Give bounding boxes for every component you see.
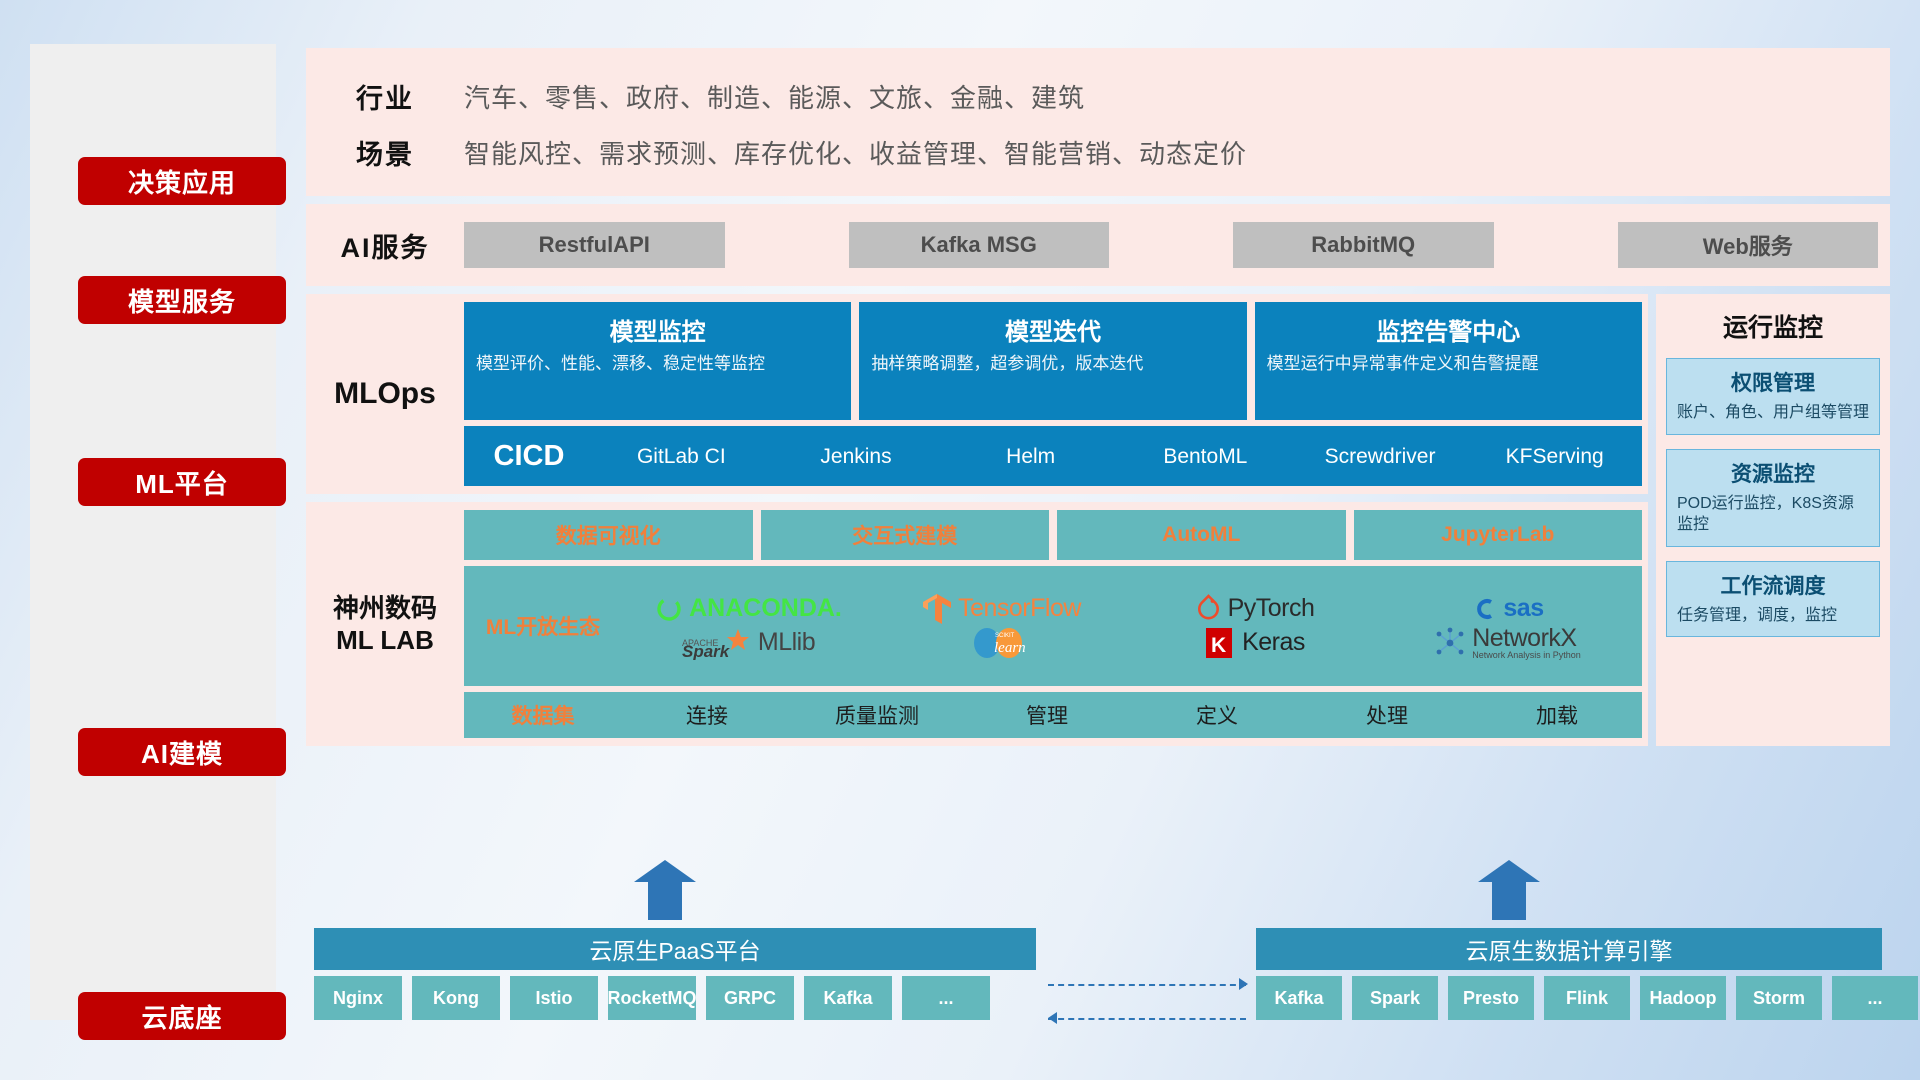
ml-lab-tool-list: 数据可视化 交互式建模 AutoML JupyterLab (464, 510, 1642, 560)
spark-icon: APACHE Spark (682, 626, 752, 660)
mlops-card-desc: 模型评价、性能、漂移、稳定性等监控 (476, 353, 839, 376)
pytorch-icon (1195, 594, 1222, 624)
paas-chip[interactable]: Nginx (314, 976, 402, 1020)
pytorch-label: PyTorch (1228, 594, 1315, 623)
ml-ecosystem-logo-grid: ANACONDA. TensorFlow (622, 592, 1642, 660)
ai-service-box[interactable]: Kafka MSG (849, 222, 1110, 268)
ai-service-box[interactable]: Web服务 (1618, 222, 1879, 268)
dataset-item[interactable]: 处理 (1302, 700, 1472, 730)
data-engine-bar[interactable]: 云原生数据计算引擎 (1256, 928, 1882, 970)
anaconda-label: ANACONDA. (689, 594, 842, 623)
dataset-item[interactable]: 连接 (622, 700, 792, 730)
mlops-card[interactable]: 监控告警中心 模型运行中异常事件定义和告警提醒 (1255, 302, 1642, 420)
pytorch-logo[interactable]: PyTorch (1195, 594, 1315, 624)
spark-mllib-label: MLlib (758, 628, 815, 657)
data-chip[interactable]: Storm (1736, 976, 1822, 1020)
tensorflow-label: TensorFlow (958, 594, 1081, 623)
ml-lab-band: 神州数码 ML LAB 数据可视化 交互式建模 AutoML JupyterLa… (306, 502, 1648, 746)
sidebar-item-label: 决策应用 (128, 163, 236, 200)
keras-icon: K (1204, 626, 1236, 660)
data-chip[interactable]: Flink (1544, 976, 1630, 1020)
sidebar-item-decision-application[interactable]: 决策应用 (78, 157, 286, 205)
networkx-logo[interactable]: NetworkX Network Analysis in Python (1434, 626, 1581, 660)
ml-ecosystem-row: ML开放生态 ANACONDA. (464, 566, 1642, 686)
cloud-foundation-section: 云原生PaaS平台 云原生数据计算引擎 Nginx Kong Istio Roc… (306, 880, 1890, 1030)
main-content: 行业 汽车、零售、政府、制造、能源、文旅、金融、建筑 场景 智能风控、需求预测、… (306, 48, 1890, 746)
data-engine-chip-list: Kafka Spark Presto Flink Hadoop Storm ..… (1256, 976, 1918, 1020)
svg-text:SCIKIT: SCIKIT (995, 633, 1015, 639)
data-engine-label: 云原生数据计算引擎 (1466, 932, 1673, 966)
industry-scenario-band: 行业 汽车、零售、政府、制造、能源、文旅、金融、建筑 场景 智能风控、需求预测、… (306, 48, 1890, 196)
sidebar-item-label: ML平台 (135, 464, 229, 501)
mlops-content: 模型监控 模型评价、性能、漂移、稳定性等监控 模型迭代 抽样策略调整，超参调优，… (464, 302, 1648, 486)
platform-and-monitoring: MLOps 模型监控 模型评价、性能、漂移、稳定性等监控 模型迭代 抽样策略调整… (306, 294, 1890, 746)
dataset-item[interactable]: 管理 (962, 700, 1132, 730)
svg-text:Spark: Spark (682, 642, 731, 660)
sidebar-item-model-service[interactable]: 模型服务 (78, 276, 286, 324)
monitoring-card-title: 工作流调度 (1677, 570, 1869, 600)
paas-chip[interactable]: GRPC (706, 976, 794, 1020)
sas-logo[interactable]: sas (1471, 594, 1543, 623)
sidebar-item-ai-modeling[interactable]: AI建模 (78, 728, 286, 776)
sidebar-item-label: AI建模 (141, 734, 223, 771)
mlops-card-title: 模型监控 (476, 312, 839, 347)
paas-chip[interactable]: RocketMQ (608, 976, 696, 1020)
monitoring-card[interactable]: 工作流调度 任务管理，调度，监控 (1666, 561, 1880, 638)
ai-service-box[interactable]: RabbitMQ (1233, 222, 1494, 268)
networkx-icon (1434, 627, 1466, 659)
dataset-item[interactable]: 质量监测 (792, 700, 962, 730)
dataset-item[interactable]: 加载 (1472, 700, 1642, 730)
monitoring-panel: 运行监控 权限管理 账户、角色、用户组等管理 资源监控 POD运行监控，K8S资… (1656, 294, 1890, 746)
scenario-key: 场景 (306, 133, 464, 172)
networkx-tagline: Network Analysis in Python (1472, 651, 1581, 660)
dataset-row: 数据集 连接 质量监测 管理 定义 处理 加载 (464, 692, 1642, 738)
monitoring-card-title: 权限管理 (1677, 367, 1869, 397)
paas-chip[interactable]: Kafka (804, 976, 892, 1020)
scikit-learn-logo[interactable]: SCIKIT learn (971, 626, 1033, 660)
ml-lab-key-line2: ML LAB (336, 624, 434, 657)
platform-column: MLOps 模型监控 模型评价、性能、漂移、稳定性等监控 模型迭代 抽样策略调整… (306, 294, 1648, 746)
scikit-learn-icon: SCIKIT learn (971, 626, 1033, 660)
mlops-card-desc: 模型运行中异常事件定义和告警提醒 (1267, 353, 1630, 376)
sidebar-item-label: 云底座 (141, 998, 222, 1035)
cicd-item[interactable]: Screwdriver (1293, 446, 1468, 467)
tensorflow-icon (922, 593, 952, 625)
monitoring-card[interactable]: 权限管理 账户、角色、用户组等管理 (1666, 358, 1880, 435)
monitoring-column: 运行监控 权限管理 账户、角色、用户组等管理 资源监控 POD运行监控，K8S资… (1656, 294, 1890, 746)
sidebar-item-ml-platform[interactable]: ML平台 (78, 458, 286, 506)
paas-chip[interactable]: ... (902, 976, 990, 1020)
mlops-card-list: 模型监控 模型评价、性能、漂移、稳定性等监控 模型迭代 抽样策略调整，超参调优，… (464, 302, 1642, 420)
mlops-band: MLOps 模型监控 模型评价、性能、漂移、稳定性等监控 模型迭代 抽样策略调整… (306, 294, 1648, 494)
ml-lab-content: 数据可视化 交互式建模 AutoML JupyterLab ML开放生态 (464, 510, 1648, 738)
monitoring-card-desc: POD运行监控，K8S资源监控 (1677, 493, 1869, 536)
ml-lab-tool[interactable]: 数据可视化 (464, 510, 753, 560)
ml-lab-tool[interactable]: AutoML (1057, 510, 1346, 560)
arrow-left-icon (1048, 1012, 1057, 1024)
data-chip[interactable]: Presto (1448, 976, 1534, 1020)
ml-ecosystem-label: ML开放生态 (464, 611, 622, 641)
scenario-row: 场景 智能风控、需求预测、库存优化、收益管理、智能营销、动态定价 (306, 124, 1890, 180)
ai-service-band: AI服务 RestfulAPI Kafka MSG RabbitMQ Web服务 (306, 204, 1890, 286)
anaconda-logo[interactable]: ANACONDA. (655, 594, 842, 623)
mlops-card-desc: 抽样策略调整，超参调优，版本迭代 (871, 353, 1234, 376)
paas-chip-list: Nginx Kong Istio RocketMQ GRPC Kafka ... (314, 976, 990, 1020)
monitoring-card[interactable]: 资源监控 POD运行监控，K8S资源监控 (1666, 449, 1880, 547)
mlops-card-title: 监控告警中心 (1267, 312, 1630, 347)
cicd-bar: CICD GitLab CI Jenkins Helm BentoML Scre… (464, 426, 1642, 486)
industry-key: 行业 (306, 77, 464, 116)
sas-icon (1471, 596, 1497, 622)
ai-service-key: AI服务 (306, 226, 464, 265)
monitoring-card-title: 资源监控 (1677, 458, 1869, 488)
dataset-label: 数据集 (464, 700, 622, 730)
keras-logo[interactable]: K Keras (1204, 626, 1305, 660)
ml-lab-tool[interactable]: JupyterLab (1354, 510, 1643, 560)
sas-label: sas (1503, 594, 1543, 623)
scenario-value: 智能风控、需求预测、库存优化、收益管理、智能营销、动态定价 (464, 134, 1247, 171)
data-chip[interactable]: Hadoop (1640, 976, 1726, 1020)
cicd-label: CICD (464, 440, 594, 473)
anaconda-icon (655, 595, 683, 623)
architecture-diagram: 决策应用 模型服务 ML平台 AI建模 云底座 行业 汽车、零售、政府、制造、能… (0, 0, 1920, 1080)
paas-platform-bar[interactable]: 云原生PaaS平台 (314, 928, 1036, 970)
mlops-card[interactable]: 模型监控 模型评价、性能、漂移、稳定性等监控 (464, 302, 851, 420)
layer-rail: 决策应用 模型服务 ML平台 AI建模 云底座 (30, 44, 276, 1020)
svg-text:K: K (1211, 634, 1226, 657)
dataset-item[interactable]: 定义 (1132, 700, 1302, 730)
ml-lab-key: 神州数码 ML LAB (306, 510, 464, 738)
data-chip[interactable]: Spark (1352, 976, 1438, 1020)
bidirectional-connector (1048, 978, 1248, 1026)
mlops-key: MLOps (306, 302, 464, 486)
keras-label: Keras (1242, 628, 1305, 657)
sidebar-item-label: 模型服务 (128, 282, 236, 319)
monitoring-card-desc: 账户、角色、用户组等管理 (1677, 402, 1869, 424)
data-chip[interactable]: ... (1832, 976, 1918, 1020)
monitoring-title: 运行监控 (1666, 308, 1880, 344)
svg-text:learn: learn (994, 640, 1026, 656)
monitoring-card-desc: 任务管理，调度，监控 (1677, 605, 1869, 627)
spark-mllib-logo[interactable]: APACHE Spark MLlib (682, 626, 815, 660)
cicd-item[interactable]: Helm (943, 446, 1118, 467)
tensorflow-logo[interactable]: TensorFlow (922, 593, 1081, 625)
industry-value: 汽车、零售、政府、制造、能源、文旅、金融、建筑 (464, 78, 1085, 115)
industry-row: 行业 汽车、零售、政府、制造、能源、文旅、金融、建筑 (306, 68, 1890, 124)
cicd-item[interactable]: BentoML (1118, 446, 1293, 467)
cicd-item[interactable]: GitLab CI (594, 446, 769, 467)
sidebar-item-cloud-foundation[interactable]: 云底座 (78, 992, 286, 1040)
paas-chip[interactable]: Istio (510, 976, 598, 1020)
networkx-label: NetworkX (1472, 626, 1581, 651)
ai-service-box-list: RestfulAPI Kafka MSG RabbitMQ Web服务 (464, 222, 1890, 268)
data-chip[interactable]: Kafka (1256, 976, 1342, 1020)
paas-platform-label: 云原生PaaS平台 (589, 932, 760, 966)
ml-lab-key-line1: 神州数码 (333, 592, 437, 625)
arrow-right-icon (1239, 978, 1248, 990)
cicd-item[interactable]: Jenkins (769, 446, 944, 467)
mlops-card[interactable]: 模型迭代 抽样策略调整，超参调优，版本迭代 (859, 302, 1246, 420)
ai-service-box[interactable]: RestfulAPI (464, 222, 725, 268)
mlops-card-title: 模型迭代 (871, 312, 1234, 347)
paas-chip[interactable]: Kong (412, 976, 500, 1020)
ml-lab-tool[interactable]: 交互式建模 (761, 510, 1050, 560)
cicd-item[interactable]: KFServing (1467, 446, 1642, 467)
